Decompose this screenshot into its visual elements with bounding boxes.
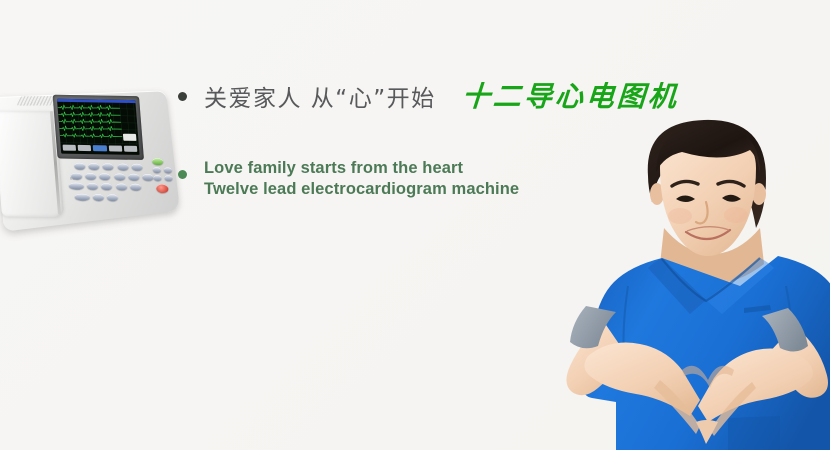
subcopy-line-2: Twelve lead electrocardiogram machine xyxy=(204,179,519,200)
promo-banner: ECG xyxy=(0,0,830,450)
softkey-active xyxy=(93,145,107,151)
ecg-device-image: ECG xyxy=(0,85,185,239)
cheek-right xyxy=(724,207,748,223)
stop-key xyxy=(156,184,169,193)
subcopy-line-1: Love family starts from the heart xyxy=(204,158,519,179)
screen-softkey-bar xyxy=(62,142,137,153)
keypad-key xyxy=(71,173,83,180)
device-screen-bezel xyxy=(53,95,144,160)
keypad-key xyxy=(131,164,143,171)
screen-logo-badge xyxy=(123,133,137,140)
keypad-key xyxy=(85,173,97,180)
nav-key xyxy=(153,167,162,173)
keypad-key xyxy=(74,194,90,201)
cheek-left xyxy=(668,208,692,224)
bullet-icon xyxy=(178,170,187,179)
headline-chinese: 关爱家人 从“心”开始 xyxy=(204,82,436,116)
keypad-key xyxy=(87,183,99,190)
keypad-key xyxy=(117,163,129,170)
keypad-key xyxy=(115,183,127,190)
softkey xyxy=(124,145,138,151)
keypad-key xyxy=(107,194,119,201)
device-keypad: ECG xyxy=(65,157,182,217)
start-key xyxy=(152,158,164,165)
keypad-key xyxy=(130,184,142,191)
nurse-photo xyxy=(556,110,830,450)
softkey xyxy=(108,145,122,151)
keypad-key xyxy=(103,163,115,170)
nav-key xyxy=(164,167,173,173)
keypad-key xyxy=(142,174,154,181)
subcopy-block: Love family starts from the heart Twelve… xyxy=(204,158,519,200)
keypad-key xyxy=(69,183,85,190)
keypad-key xyxy=(128,174,140,181)
nav-key xyxy=(164,175,173,181)
keypad-key xyxy=(99,173,111,180)
keypad-key xyxy=(101,183,113,190)
nurse-illustration xyxy=(556,110,830,450)
softkey xyxy=(63,144,77,150)
keypad-key xyxy=(74,163,86,170)
bullet-icon xyxy=(178,92,187,101)
product-name-calligraphy: 十二导心电图机 xyxy=(460,80,679,114)
keypad-key xyxy=(93,194,105,201)
hip-pocket xyxy=(728,416,780,450)
device-screen xyxy=(57,98,140,154)
keypad-key xyxy=(88,163,100,170)
softkey xyxy=(78,144,92,150)
keypad-key xyxy=(114,173,126,180)
nav-key xyxy=(153,175,162,181)
